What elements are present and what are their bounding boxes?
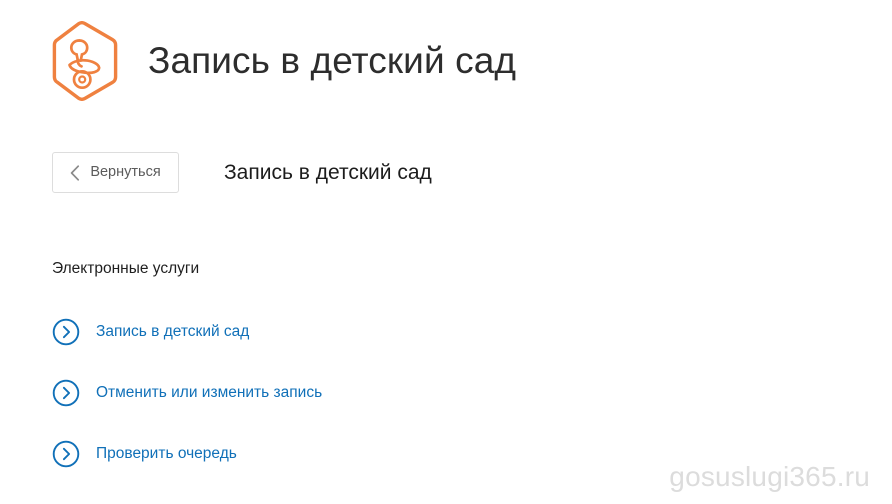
back-button[interactable]: Вернуться xyxy=(52,152,179,193)
services-label: Электронные услуги xyxy=(52,258,199,280)
service-link-cancel-or-change[interactable]: Отменить или изменить запись xyxy=(96,379,322,407)
services-list: Запись в детский сад Отменить или измени… xyxy=(52,318,652,468)
chevron-left-icon xyxy=(70,165,80,181)
page-title: Запись в детский сад xyxy=(148,39,516,83)
list-item[interactable]: Запись в детский сад xyxy=(52,318,652,346)
service-link-enroll[interactable]: Запись в детский сад xyxy=(96,318,249,346)
pacifier-hexagon-icon xyxy=(52,21,118,101)
page-header: Запись в детский сад xyxy=(52,20,516,102)
site-watermark: gosuslugi365.ru xyxy=(669,460,870,494)
list-item[interactable]: Отменить или изменить запись xyxy=(52,379,652,407)
service-link-check-queue[interactable]: Проверить очередь xyxy=(96,440,237,468)
back-row: Вернуться Запись в детский сад xyxy=(52,152,432,193)
list-item[interactable]: Проверить очередь xyxy=(52,440,652,468)
arrow-circle-right-icon xyxy=(52,379,80,407)
arrow-circle-right-icon xyxy=(52,440,80,468)
arrow-circle-right-icon xyxy=(52,318,80,346)
section-heading: Запись в детский сад xyxy=(224,152,432,193)
back-button-label: Вернуться xyxy=(90,165,160,180)
